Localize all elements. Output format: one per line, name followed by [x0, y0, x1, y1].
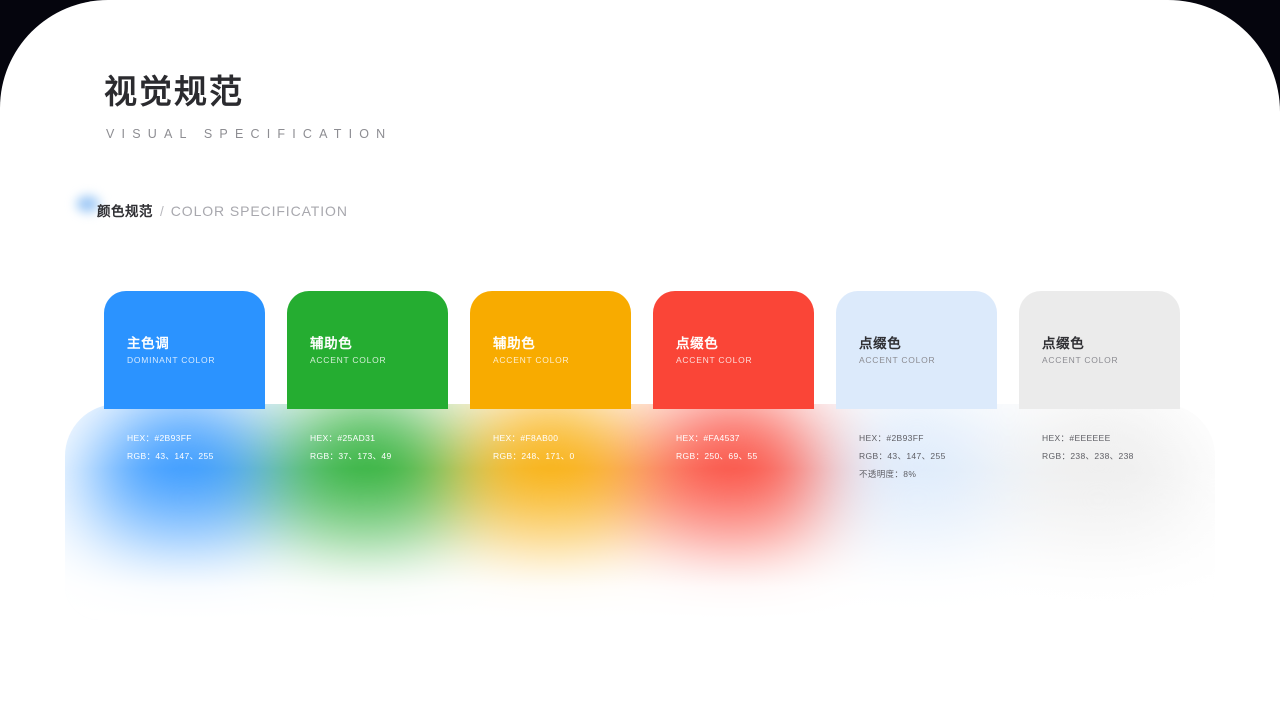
hex-code: #2B93FF: [154, 433, 191, 443]
hex-code: #25AD31: [337, 433, 375, 443]
page-title: 视觉规范: [104, 74, 244, 110]
swatch-hex-value: HEX：#2B93FF: [127, 429, 307, 447]
hex-code: #EEEEEE: [1069, 433, 1110, 443]
swatch-rgb-value: RGB：250、69、55: [676, 447, 856, 465]
swatch-rgb-value: RGB：43、147、255: [859, 447, 1039, 465]
swatch-name-cn: 点缀色: [1042, 332, 1084, 352]
swatch-name-en: DOMINANT COLOR: [127, 355, 215, 365]
swatch-name-cn: 点缀色: [676, 332, 718, 352]
swatch-rgb-value: RGB：37、173、49: [310, 447, 490, 465]
swatch-name-en: ACCENT COLOR: [859, 355, 935, 365]
swatch-hex-value: HEX：#2B93FF: [859, 429, 1039, 447]
swatch-rgb-value: RGB：238、238、238: [1042, 447, 1222, 465]
section-heading: 颜色规范 / COLOR SPECIFICATION: [97, 200, 348, 220]
swatch-spec: HEX：#FA4537RGB：250、69、55: [676, 429, 856, 465]
section-title-cn: 颜色规范: [97, 200, 153, 220]
swatch-rgb-value: RGB：248、171、0: [493, 447, 673, 465]
swatch-name-cn: 辅助色: [310, 332, 352, 352]
swatch-name-cn: 点缀色: [859, 332, 901, 352]
swatch-spec: HEX：#EEEEEERGB：238、238、238: [1042, 429, 1222, 465]
swatch-name-en: ACCENT COLOR: [493, 355, 569, 365]
color-swatch-card[interactable]: 点缀色ACCENT COLOR: [1019, 291, 1180, 409]
swatch-spec: HEX：#25AD31RGB：37、173、49: [310, 429, 490, 465]
swatch-spec: HEX：#2B93FFRGB：43、147、255: [127, 429, 307, 465]
slide-canvas: 视觉规范 VISUAL SPECIFICATION 颜色规范 / COLOR S…: [0, 0, 1280, 720]
rgb-code: 250、69、55: [704, 451, 757, 461]
swatch-name-en: ACCENT COLOR: [676, 355, 752, 365]
color-swatch-card[interactable]: 点缀色ACCENT COLOR: [836, 291, 997, 409]
swatch-name-cn: 辅助色: [493, 332, 535, 352]
rgb-code: 43、147、255: [155, 451, 213, 461]
swatch-hex-value: HEX：#25AD31: [310, 429, 490, 447]
swatch-name-en: ACCENT COLOR: [310, 355, 386, 365]
swatch-opacity-value: 不透明度：8%: [859, 465, 1039, 483]
section-title-en: COLOR SPECIFICATION: [171, 203, 348, 219]
color-swatch-card[interactable]: 辅助色ACCENT COLOR: [287, 291, 448, 409]
hex-code: #2B93FF: [886, 433, 923, 443]
color-swatch-card[interactable]: 主色调DOMINANT COLOR: [104, 291, 265, 409]
rgb-code: 37、173、49: [338, 451, 391, 461]
swatch-spec: HEX：#F8AB00RGB：248、171、0: [493, 429, 673, 465]
rgb-code: 238、238、238: [1070, 451, 1133, 461]
color-swatch-list: 主色调DOMINANT COLORHEX：#2B93FFRGB：43、147、2…: [104, 291, 1184, 491]
color-swatch-card[interactable]: 点缀色ACCENT COLOR: [653, 291, 814, 409]
swatch-name-cn: 主色调: [127, 332, 169, 352]
swatch-spec: HEX：#2B93FFRGB：43、147、255不透明度：8%: [859, 429, 1039, 483]
rgb-code: 43、147、255: [887, 451, 945, 461]
page-subtitle: VISUAL SPECIFICATION: [106, 127, 392, 141]
color-swatch-card[interactable]: 辅助色ACCENT COLOR: [470, 291, 631, 409]
opacity-percent: 8%: [903, 469, 916, 479]
hex-code: #F8AB00: [520, 433, 558, 443]
swatch-hex-value: HEX：#F8AB00: [493, 429, 673, 447]
slide-sheet: 视觉规范 VISUAL SPECIFICATION 颜色规范 / COLOR S…: [0, 0, 1280, 720]
swatch-hex-value: HEX：#EEEEEE: [1042, 429, 1222, 447]
swatch-name-en: ACCENT COLOR: [1042, 355, 1118, 365]
section-separator: /: [160, 204, 164, 219]
hex-code: #FA4537: [703, 433, 739, 443]
swatch-rgb-value: RGB：43、147、255: [127, 447, 307, 465]
swatch-hex-value: HEX：#FA4537: [676, 429, 856, 447]
rgb-code: 248、171、0: [521, 451, 574, 461]
